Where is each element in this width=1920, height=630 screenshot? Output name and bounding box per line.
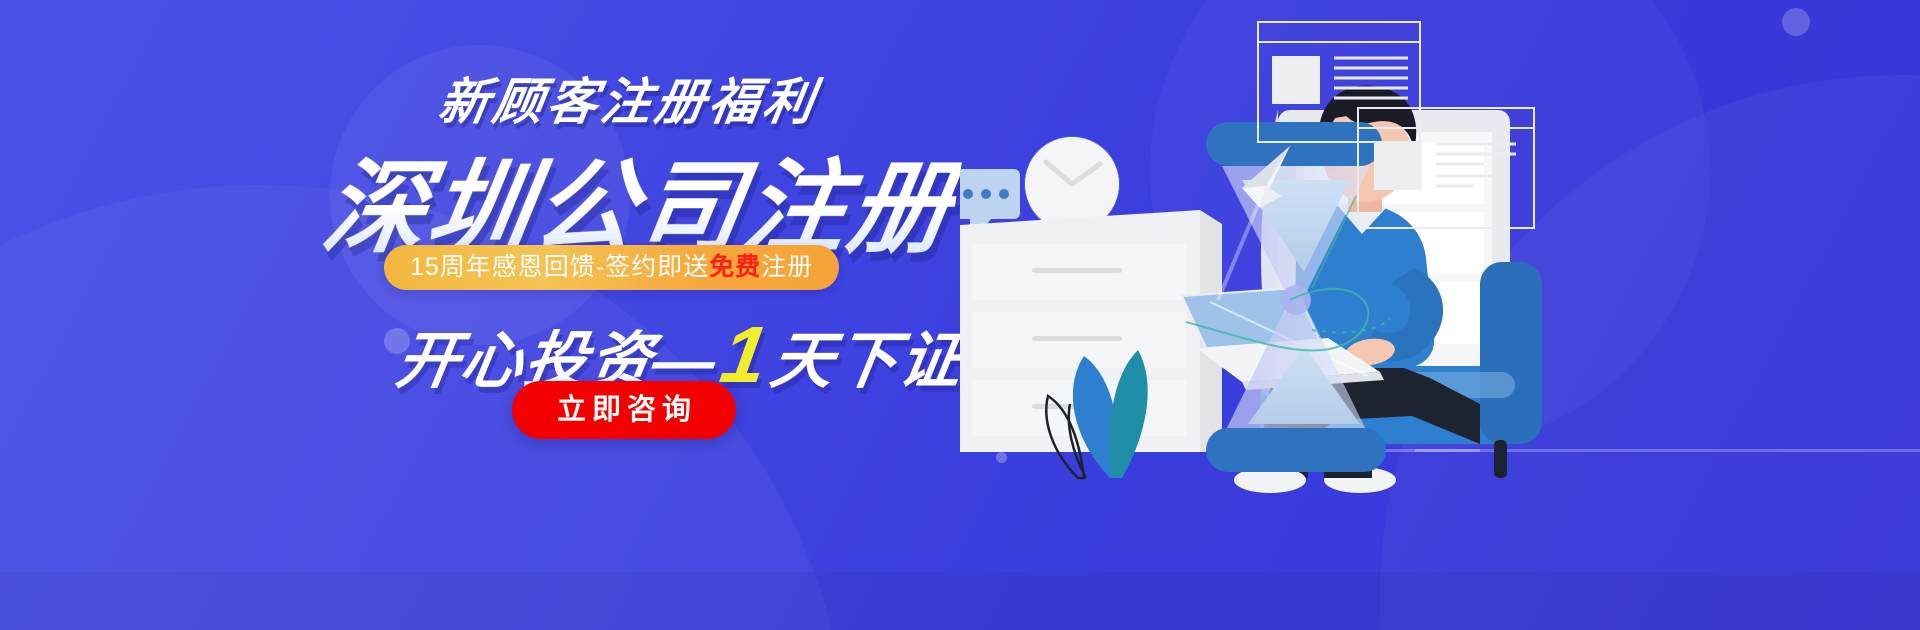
consult-now-button[interactable]: 立即咨询 — [512, 381, 736, 439]
document-card-thumbnail — [1272, 56, 1320, 104]
banner-copy-block: 新顾客注册福利 深圳公司注册 15周年感恩回馈-签约即送 免费 注册 开心投资—… — [0, 0, 960, 630]
chair-leg — [1494, 440, 1507, 478]
hero-illustration — [960, 0, 1920, 630]
floor-line — [1415, 449, 1920, 452]
banner-eyebrow: 新顾客注册福利 — [434, 62, 823, 134]
subline-number: 1 — [716, 315, 775, 395]
consult-now-button-label: 立即咨询 — [551, 396, 697, 425]
promo-badge: 15周年感恩回馈-签约即送 免费 注册 — [384, 245, 839, 290]
promo-badge-highlight: 免费 — [709, 255, 761, 280]
document-card-secondary-thumbnail — [1374, 142, 1422, 190]
promo-badge-text-after: 注册 — [761, 255, 813, 280]
promo-banner: 新顾客注册福利 深圳公司注册 15周年感恩回馈-签约即送 免费 注册 开心投资—… — [0, 0, 1920, 630]
subline-text-after: 天下证 — [765, 310, 971, 400]
promo-badge-text-before: 15周年感恩回馈-签约即送 — [410, 255, 709, 280]
